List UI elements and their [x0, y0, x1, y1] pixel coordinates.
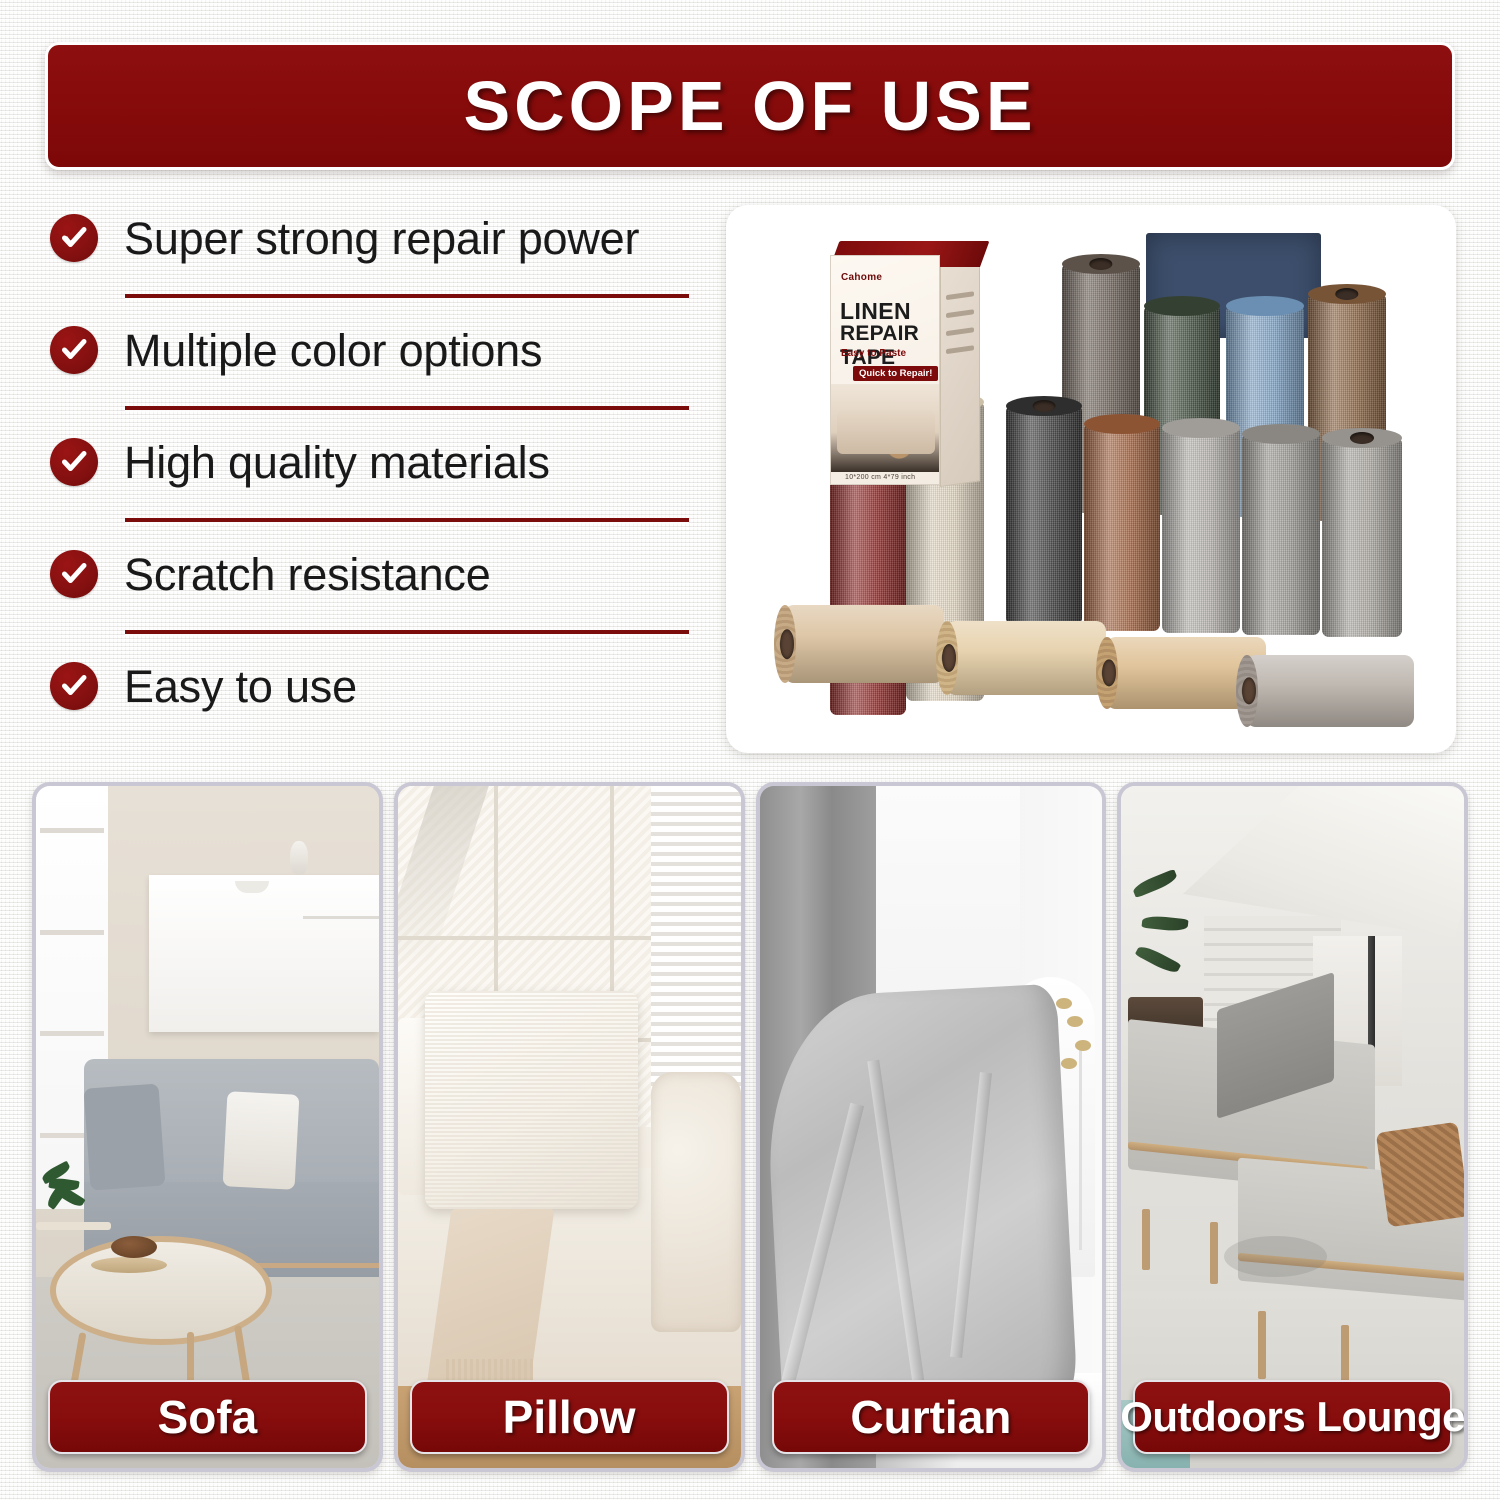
- product-image-card: Cahome LINEN REPAIR TAPE Easy to Paste Q…: [726, 205, 1456, 753]
- tape-roll-arrangement: Cahome LINEN REPAIR TAPE Easy to Paste Q…: [726, 205, 1456, 753]
- panel-caption-outdoors-lounge: Outdoors Lounge: [1133, 1380, 1452, 1454]
- panel-caption-label: Curtian: [850, 1390, 1011, 1444]
- use-case-panel-outdoors-lounge[interactable]: Outdoors Lounge: [1117, 782, 1468, 1472]
- box-side-panel: [940, 259, 980, 487]
- panel-caption-curtain: Curtian: [772, 1380, 1091, 1454]
- tape-roll-charcoal: [1006, 405, 1082, 625]
- patio-sun-loungers-photo: [1121, 786, 1464, 1468]
- list-item: Multiple color options: [45, 312, 705, 424]
- tape-roll-terracotta: [1084, 423, 1160, 631]
- living-room-sofa-photo: [36, 786, 379, 1468]
- tape-roll-lying-warm-gray: [1246, 655, 1414, 727]
- check-circle-icon: [50, 214, 98, 262]
- box-front-panel: Cahome LINEN REPAIR TAPE Easy to Paste Q…: [830, 255, 940, 485]
- list-item: Scratch resistance: [45, 536, 705, 648]
- box-tagline-2: Quick to Repair!: [853, 366, 938, 381]
- page-title: SCOPE OF USE: [463, 66, 1036, 146]
- header-banner: SCOPE OF USE: [45, 42, 1455, 170]
- panel-caption-sofa: Sofa: [48, 1380, 367, 1454]
- white-pillow-on-couch-photo: [398, 786, 741, 1468]
- feature-list: Super strong repair power Multiple color…: [45, 200, 705, 760]
- check-circle-icon: [50, 438, 98, 486]
- use-case-panels: Sofa Pillow: [32, 782, 1468, 1472]
- box-feature-bullets: [946, 291, 974, 354]
- feature-label: Multiple color options: [124, 328, 542, 373]
- divider: [125, 518, 689, 522]
- use-case-panel-sofa[interactable]: Sofa: [32, 782, 383, 1472]
- box-dimensions: 10*200 cm 4*79 inch: [845, 474, 915, 481]
- feature-label: High quality materials: [124, 440, 550, 485]
- box-title-line1: LINEN: [840, 298, 911, 325]
- brand-logo: Cahome: [841, 272, 882, 283]
- tape-roll-lying-beige: [784, 605, 944, 683]
- divider: [125, 406, 689, 410]
- tape-roll-light-gray: [1162, 427, 1240, 633]
- panel-caption-label: Pillow: [503, 1390, 636, 1444]
- check-circle-icon: [50, 662, 98, 710]
- divider: [125, 294, 689, 298]
- box-title-line2: REPAIR TAPE: [840, 322, 939, 370]
- divider: [125, 630, 689, 634]
- box-tagline-1: Easy to Paste: [841, 348, 906, 359]
- feature-label: Scratch resistance: [124, 552, 491, 597]
- feature-label: Easy to use: [124, 664, 357, 709]
- panel-caption-label: Sofa: [158, 1390, 258, 1444]
- use-case-panel-curtain[interactable]: Curtian: [756, 782, 1107, 1472]
- list-item: Super strong repair power: [45, 200, 705, 312]
- panel-caption-pillow: Pillow: [410, 1380, 729, 1454]
- tape-roll-medium-gray: [1242, 433, 1320, 635]
- check-circle-icon: [50, 326, 98, 374]
- box-lifestyle-photo: [831, 384, 940, 472]
- check-circle-icon: [50, 550, 98, 598]
- tape-roll-lying-tan: [946, 621, 1106, 695]
- panel-caption-label: Outdoors Lounge: [1120, 1393, 1465, 1441]
- use-case-panel-pillow[interactable]: Pillow: [394, 782, 745, 1472]
- feature-label: Super strong repair power: [124, 216, 639, 261]
- list-item: High quality materials: [45, 424, 705, 536]
- list-item: Easy to use: [45, 648, 705, 760]
- gray-curtain-fabric-photo: [760, 786, 1103, 1468]
- tape-roll-warm-gray: [1322, 437, 1402, 637]
